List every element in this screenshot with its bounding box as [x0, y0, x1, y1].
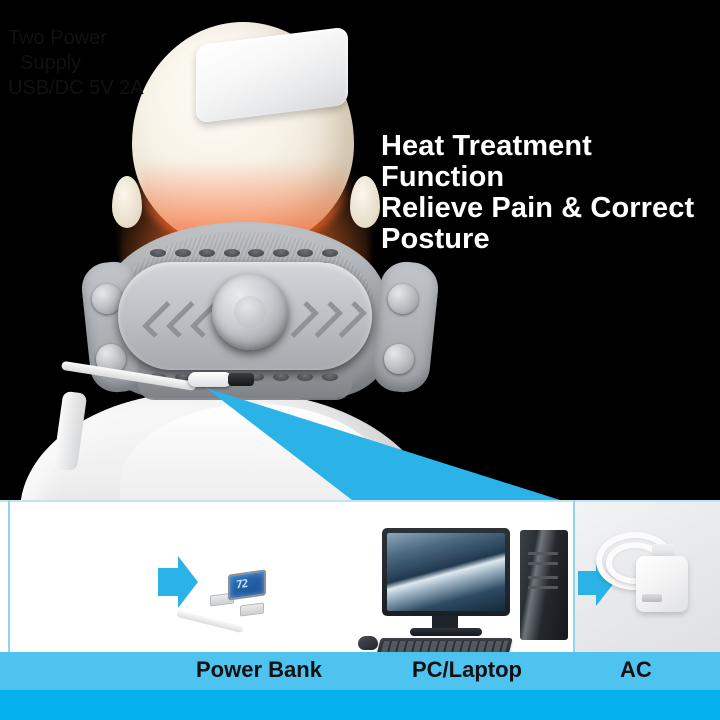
caption-bar: [0, 652, 720, 690]
caption-power-bank: Power Bank: [196, 657, 322, 683]
monitor-screen: [387, 533, 505, 611]
page-title: Heat Treatment Function Relieve Pain & C…: [381, 131, 711, 255]
supply-line-2: Supply: [8, 51, 186, 76]
supply-line-1: Two Power: [8, 26, 186, 51]
pc-tower: [520, 530, 568, 640]
headline-line-3: Posture: [381, 224, 711, 255]
supply-line-3: USB/DC 5V 2A: [8, 76, 186, 101]
headline-line-2: Relieve Pain & Correct: [381, 193, 711, 224]
caption-pc-laptop: PC/Laptop: [412, 657, 522, 683]
power-supply-label: Two Power Supply USB/DC 5V 2A: [8, 26, 186, 101]
footer-accent-bar: [0, 690, 720, 720]
headline-line-1: Heat Treatment Function: [381, 131, 711, 193]
power-bank-display-value: 72: [236, 577, 247, 592]
panel-right-divider: [573, 500, 575, 652]
caption-ac: AC: [620, 657, 652, 683]
ac-usb-port: [642, 594, 662, 602]
monitor-stand-base: [410, 628, 482, 636]
monitor: [382, 528, 510, 616]
mouse: [358, 636, 378, 650]
panel-left-divider: [8, 500, 10, 652]
ac-adapter-body: [636, 556, 688, 612]
power-bank-display: 72: [228, 569, 266, 600]
product-image: Heat Treatment Function Relieve Pain & C…: [0, 0, 720, 720]
panel-top-divider: [0, 500, 720, 502]
arrow-right-icon-powerbank: [158, 556, 198, 608]
